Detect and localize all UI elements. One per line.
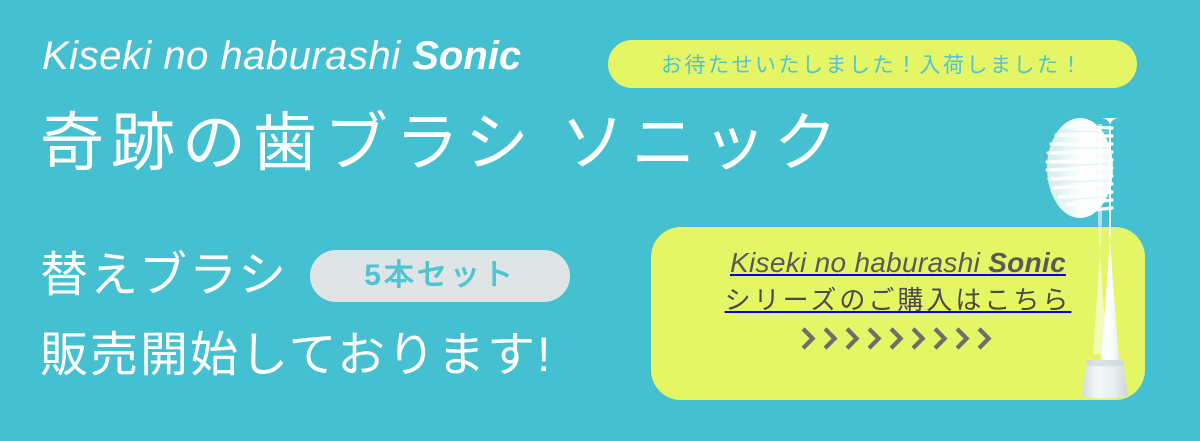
cta-japanese-label: シリーズのご購入はこちら [725, 285, 1072, 316]
promo-line-1: 替えブラシ 5本セット [40, 250, 570, 302]
chevron-right-icon [867, 325, 886, 352]
count-pill-label: 5本セット [364, 261, 516, 291]
count-pill: 5本セット [310, 250, 570, 302]
promo-banner: Kiseki no haburashi Sonic お待たせいたしました！入荷し… [0, 0, 1200, 441]
promo-line-2: 販売開始しております! [40, 332, 552, 380]
cta-chevron-row [801, 325, 996, 352]
availability-badge-label: お待たせいたしました！入荷しました！ [661, 49, 1084, 79]
brand-latin-bold: Sonic [412, 34, 521, 78]
chevron-right-icon [933, 325, 952, 352]
availability-badge: お待たせいたしました！入荷しました！ [608, 40, 1137, 88]
brand-latin-title: Kiseki no haburashi Sonic [42, 36, 521, 76]
chevron-right-icon [977, 325, 996, 352]
cta-latin-light: Kiseki no haburashi [730, 247, 988, 278]
chevron-right-icon [955, 325, 974, 352]
chevron-right-icon [889, 325, 908, 352]
page-title: 奇跡の歯ブラシ ソニック [40, 110, 845, 177]
chevron-right-icon [801, 325, 820, 352]
chevron-right-icon [845, 325, 864, 352]
brand-latin-light: Kiseki no haburashi [42, 34, 412, 78]
cta-latin-title: Kiseki no haburashi Sonic [730, 245, 1066, 280]
chevron-right-icon [823, 325, 842, 352]
sonic-toothbrush-head-image [1040, 112, 1160, 400]
promo-line-1-label: 替えブラシ [40, 252, 288, 300]
brush-collar [1082, 360, 1128, 399]
brush-bristles [1047, 118, 1113, 218]
chevron-right-icon [911, 325, 930, 352]
